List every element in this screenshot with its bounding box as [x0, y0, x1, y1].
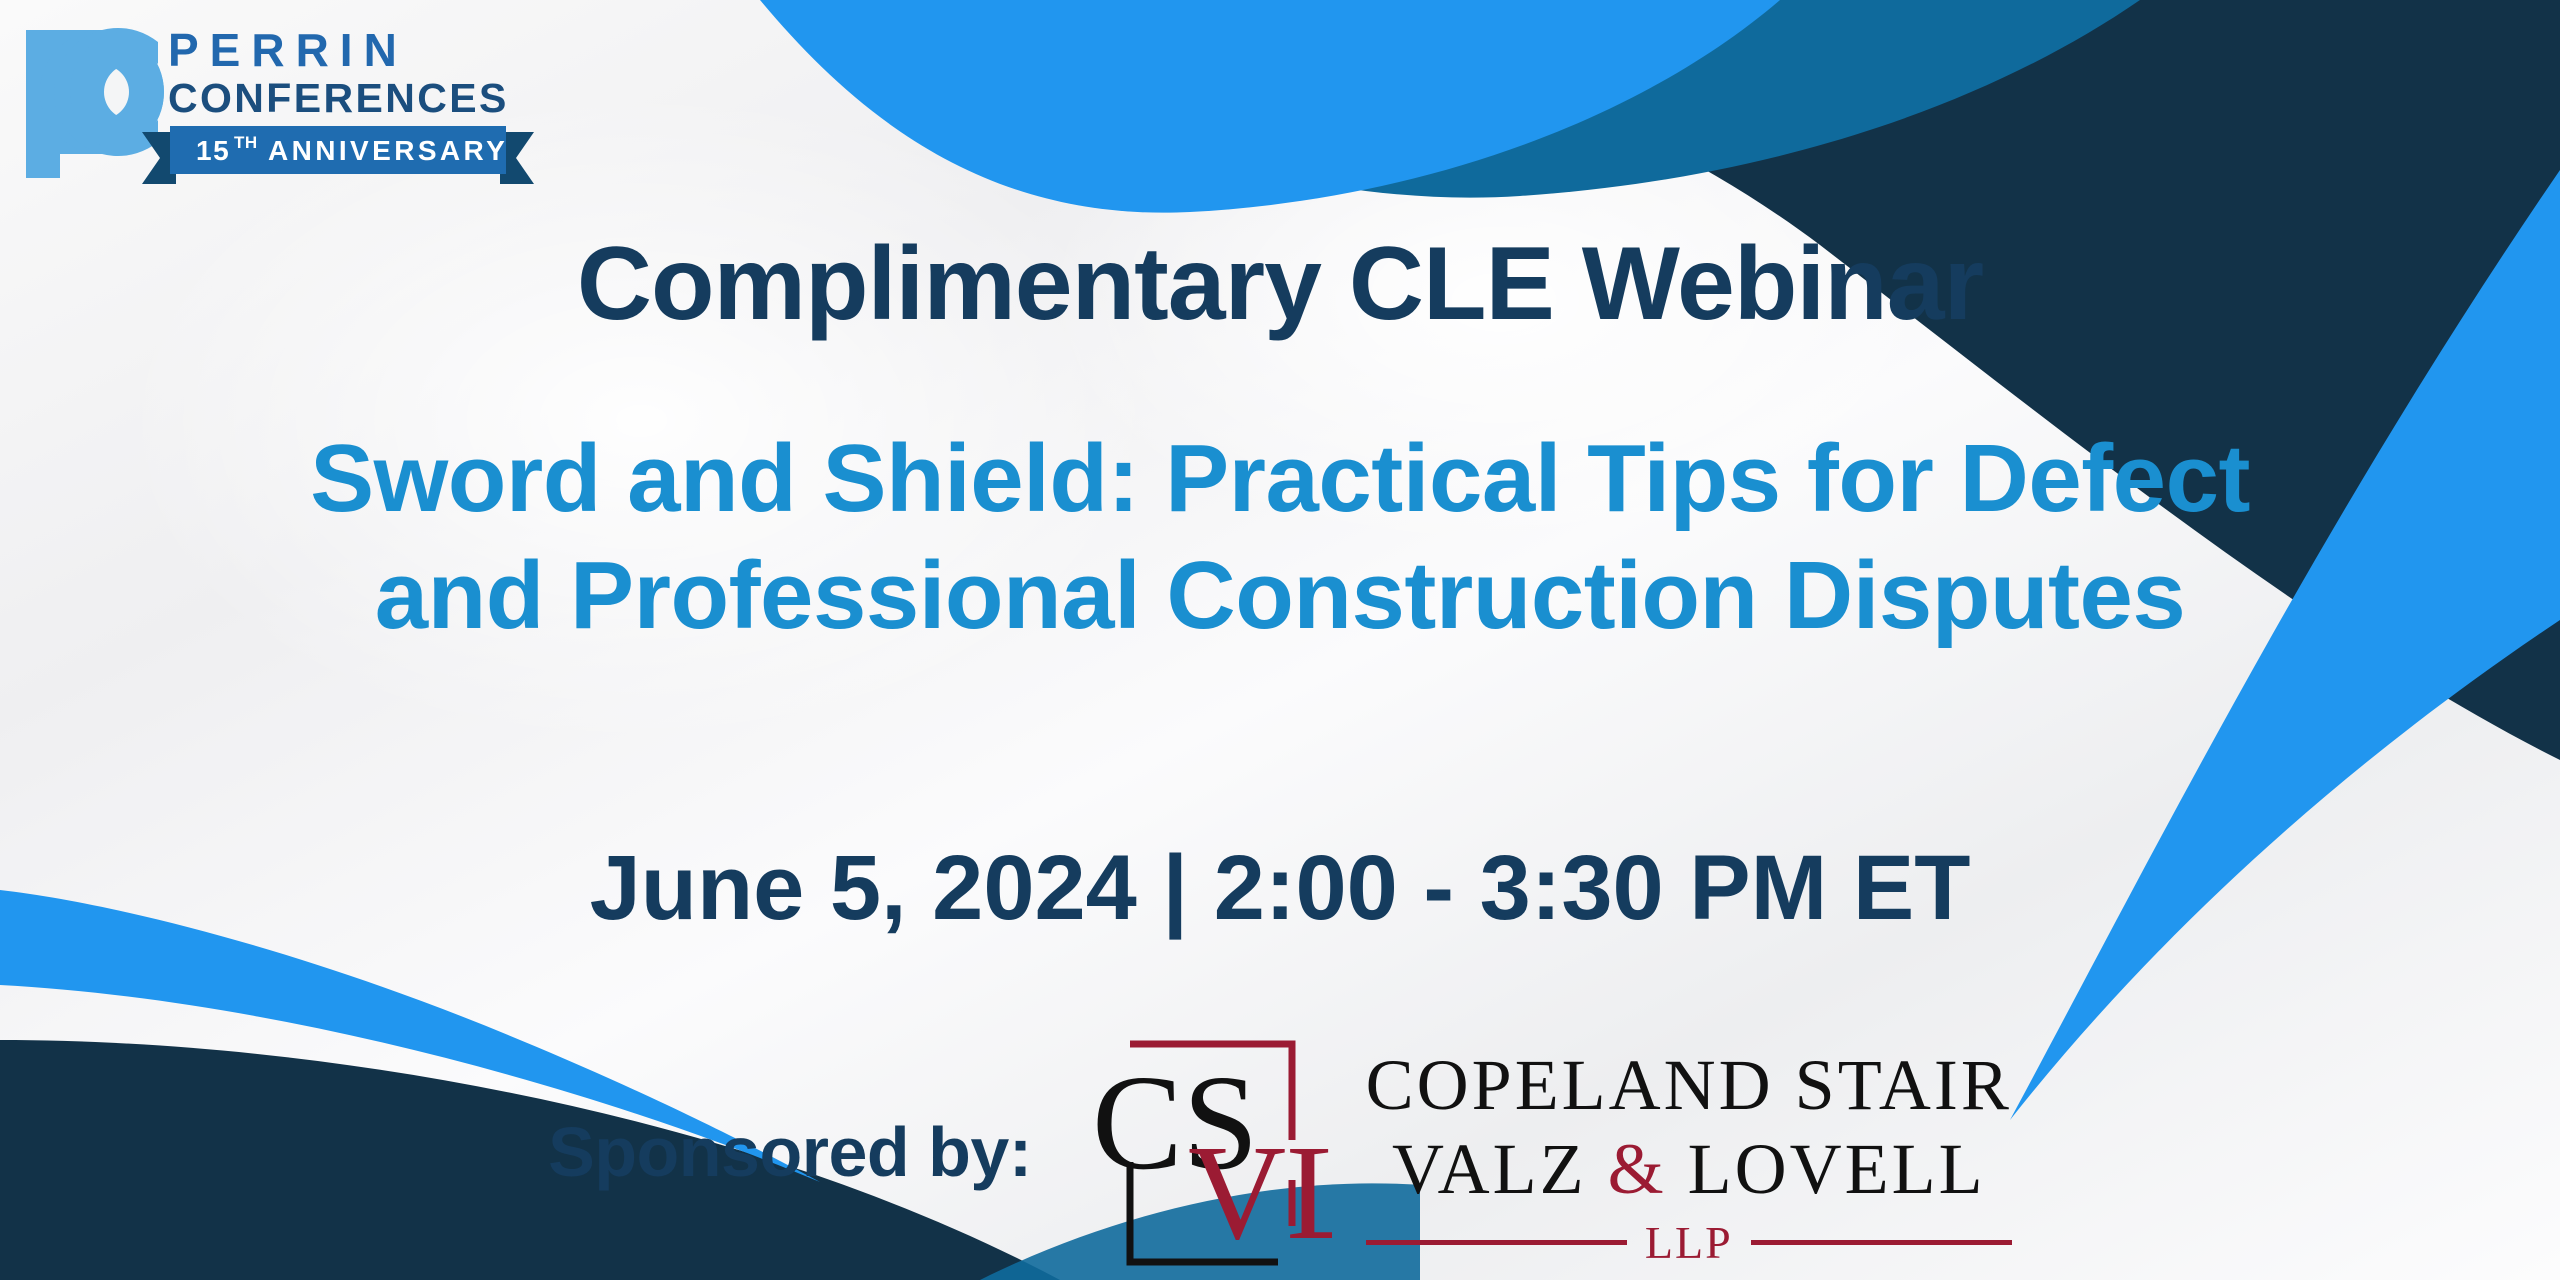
csvl-monogram-icon: CS VL [1092, 1030, 1332, 1280]
anniversary-ribbon: 15 TH ANNIVERSARY [142, 126, 534, 184]
copeland-stair-valz-lovell-logo[interactable]: CS VL COPELAND STAIR VALZ & LOVELL LLP [1092, 1030, 2012, 1280]
ampersand: & [1608, 1129, 1667, 1209]
firm-name-block: COPELAND STAIR VALZ & LOVELL LLP [1366, 1044, 2012, 1265]
sponsor-section: Sponsored by: CS VL COPELAND STAIR VALZ … [0, 1030, 2560, 1280]
logo-name-perrin: PERRIN [168, 24, 408, 76]
firm-name-lovell: LOVELL [1667, 1129, 1986, 1209]
logo-name-conferences: CONFERENCES [168, 75, 509, 121]
monogram-vl: VL [1188, 1118, 1332, 1268]
perrin-conferences-logo[interactable]: PERRIN CONFERENCES 15 TH ANNIVERSARY [10, 8, 570, 198]
ribbon-word: ANNIVERSARY [268, 135, 508, 166]
pc-monogram-icon [26, 28, 164, 178]
firm-name-line-1: COPELAND STAIR [1366, 1044, 2012, 1128]
rule-left [1366, 1240, 1627, 1245]
ribbon-ordinal: TH [234, 133, 258, 152]
firm-name-line-2: VALZ & LOVELL [1392, 1128, 1986, 1212]
ribbon-number: 15 [196, 135, 230, 166]
rule-right [1751, 1240, 2012, 1245]
perrin-logo-svg: PERRIN CONFERENCES 15 TH ANNIVERSARY [10, 8, 570, 198]
webinar-promo-banner: PERRIN CONFERENCES 15 TH ANNIVERSARY Com… [0, 0, 2560, 1280]
sponsored-by-label: Sponsored by: [548, 1112, 1032, 1198]
firm-entity-llp: LLP [1645, 1220, 1733, 1266]
firm-name-valz: VALZ [1392, 1129, 1608, 1209]
firm-entity-row: LLP [1366, 1220, 2012, 1266]
